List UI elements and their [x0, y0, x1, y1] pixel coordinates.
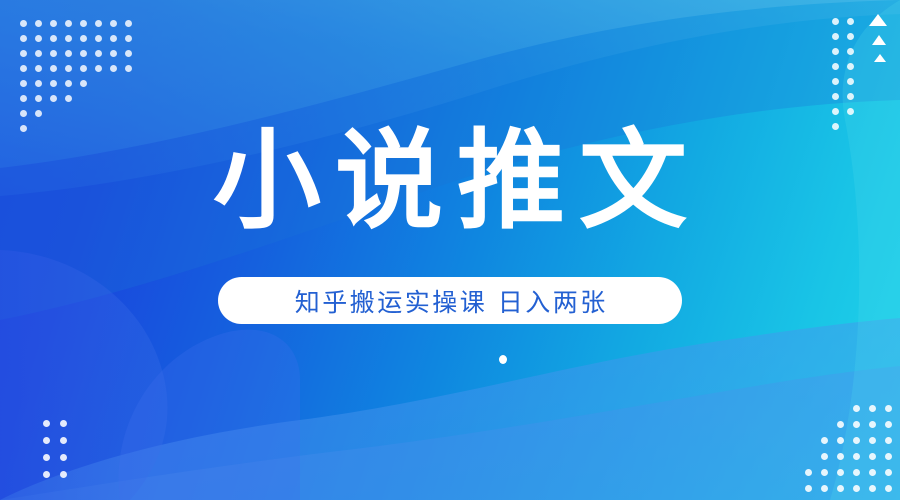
subtitle-pill: 知乎搬运实操课 日入两张: [218, 277, 682, 324]
subtitle-text: 知乎搬运实操课 日入两张: [292, 283, 607, 319]
banner-content: 小说推文 知乎搬运实操课 日入两张: [0, 0, 900, 500]
page-title: 小说推文: [0, 125, 900, 238]
promo-banner: 小说推文 知乎搬运实操课 日入两张: [0, 0, 900, 500]
